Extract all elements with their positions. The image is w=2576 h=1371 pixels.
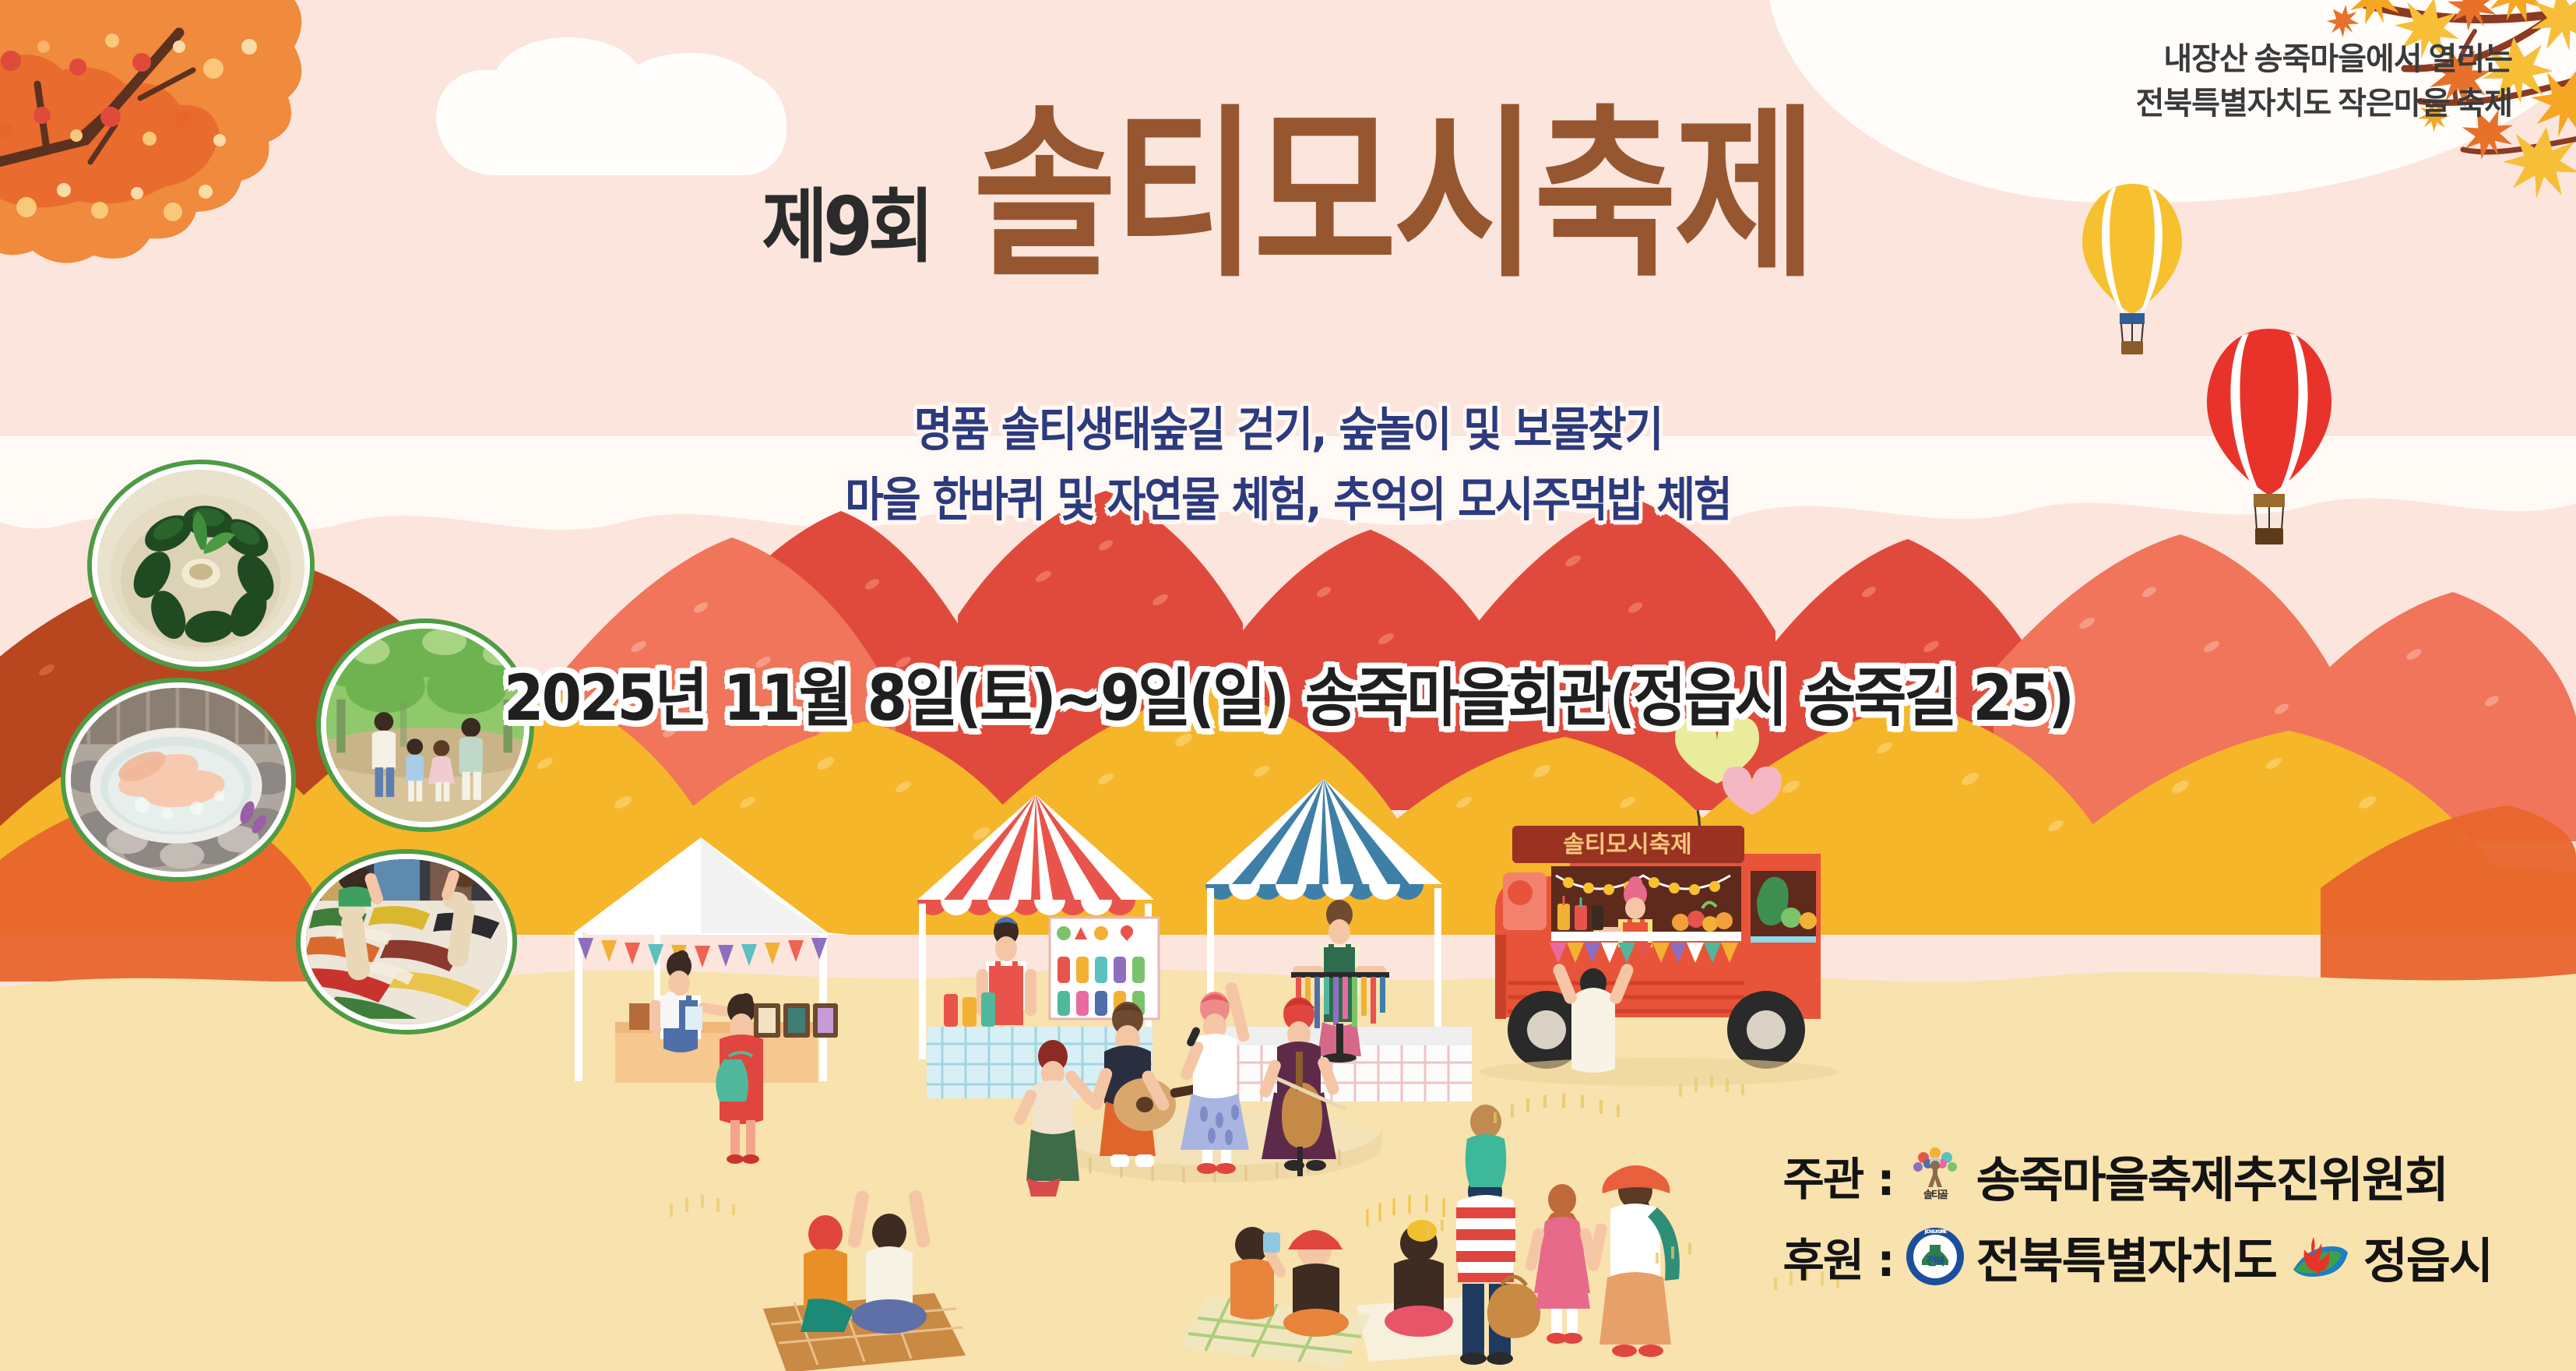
performer-cellist xyxy=(1258,997,1346,1176)
food-truck: 솔티모시축제 xyxy=(1480,717,1838,1086)
tagline: 내장산 송죽마을에서 열리는 전북특별자치도 작은마을 축제 xyxy=(2136,37,2512,126)
person-red-hat-sitting xyxy=(1283,1230,1349,1337)
sponsor-2-name: 정읍시 xyxy=(2363,1221,2492,1292)
host-row: 주관 : 솔티골 송죽마을축제추진위원회 xyxy=(1782,1140,2492,1211)
family-group-right xyxy=(1428,1094,1690,1365)
picnic-couple-right xyxy=(1177,1227,1371,1368)
tent-blue-striped xyxy=(1205,779,1472,1101)
subtitle-line-1: 명품 솔티생태숲길 걷기, 숲놀이 및 보물찾기 xyxy=(0,407,2576,453)
jeongeup-city-logo xyxy=(2287,1226,2353,1287)
solti-gol-logo-text: 솔티골 xyxy=(1923,1189,1948,1201)
photo-grain-play xyxy=(301,854,512,1030)
sponsor-label: 후원 : xyxy=(1782,1224,1893,1289)
jeonbuk-logo-ring-text: JEONBUK STATE xyxy=(1923,1229,1947,1235)
tagline-line-1: 내장산 송죽마을에서 열리는 xyxy=(2136,37,2512,82)
host-name: 송죽마을축제추진위원회 xyxy=(1976,1140,2448,1211)
jeonbuk-logo-text: 전북 xyxy=(1927,1255,1945,1268)
subtitle-line-2: 마을 한바퀴 및 자연물 체험, 추억의 모시주먹밥 체험 xyxy=(0,477,2576,523)
solti-gol-logo: 솔티골 xyxy=(1905,1145,1965,1206)
person-sitting-orange xyxy=(801,1215,853,1332)
person-arms-raised xyxy=(847,1189,931,1334)
food-truck-sign-text: 솔티모시축제 xyxy=(1563,831,1692,858)
title-edition: 제9회 xyxy=(762,162,929,278)
sponsor-row: 후원 : 전북 JEONBUK STATE 전북특별자치도 xyxy=(1782,1221,2492,1292)
sponsor-1-name: 전북특별자치도 xyxy=(1976,1221,2276,1292)
poster-title: 제9회 솔티모시축제 xyxy=(0,136,2576,283)
tent-white xyxy=(573,837,849,1164)
jeonbuk-state-logo: 전북 JEONBUK STATE xyxy=(1905,1226,1965,1287)
schedule-banner: 2025년 11월 8일(토)~9일(일) 송죽마을회관(정읍시 송죽길 25) xyxy=(0,647,2576,739)
picnic-group-left xyxy=(763,1189,966,1371)
title-main: 솔티모시축제 xyxy=(973,110,1814,283)
tagline-line-2: 전북특별자치도 작은마을 축제 xyxy=(2136,82,2512,126)
organizer-footer: 주관 : 솔티골 송죽마을축제추진위원회 후원 xyxy=(1782,1140,2492,1302)
festival-poster: 내장산 송죽마을에서 열리는 전북특별자치도 작은마을 축제 xyxy=(0,0,2576,1371)
host-label: 주관 : xyxy=(1782,1143,1893,1208)
